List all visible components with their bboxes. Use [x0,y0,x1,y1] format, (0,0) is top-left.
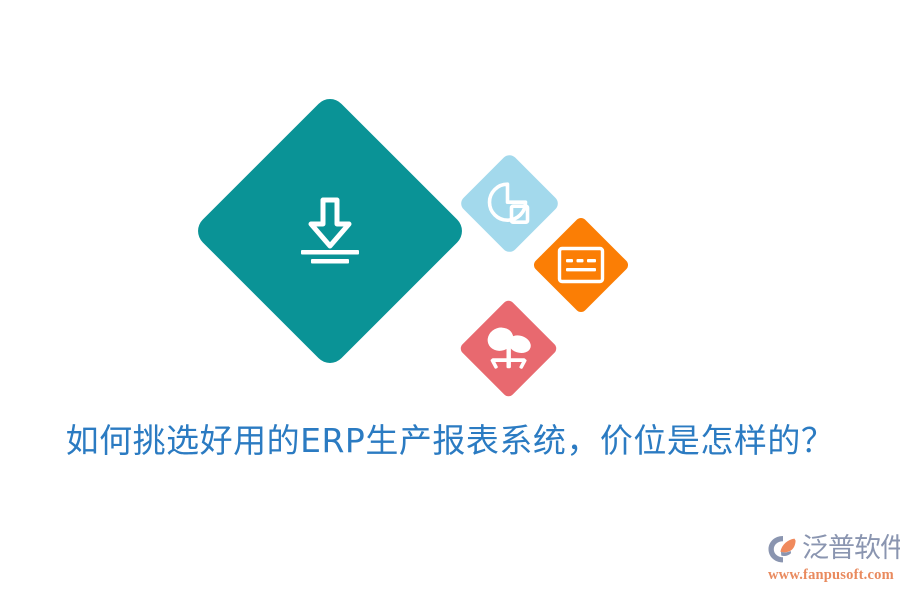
diamond-pie-chart [458,152,561,255]
logo-url-text: www.fanpusoft.com [768,566,894,584]
page-title: 如何挑选好用的ERP生产报表系统，价位是怎样的？ [0,414,900,462]
card-icon [557,246,605,284]
sprout-icon [483,325,535,373]
pie-chart-icon [486,180,534,228]
download-icon [293,196,367,266]
diamond-download [191,92,468,369]
diamond-card [532,216,631,315]
logo-brand-row: 泛普软件 [766,532,900,566]
poster-canvas: 如何挑选好用的ERP生产报表系统，价位是怎样的？ 泛普软件 www.fanpus… [0,0,900,600]
diamond-sprout [458,298,558,398]
logo-brand-text: 泛普软件 [802,534,900,564]
fanpu-leaf-icon [766,534,800,564]
diamond-graphic-group [0,0,900,420]
watermark-logo: 泛普软件 www.fanpusoft.com [766,532,892,588]
